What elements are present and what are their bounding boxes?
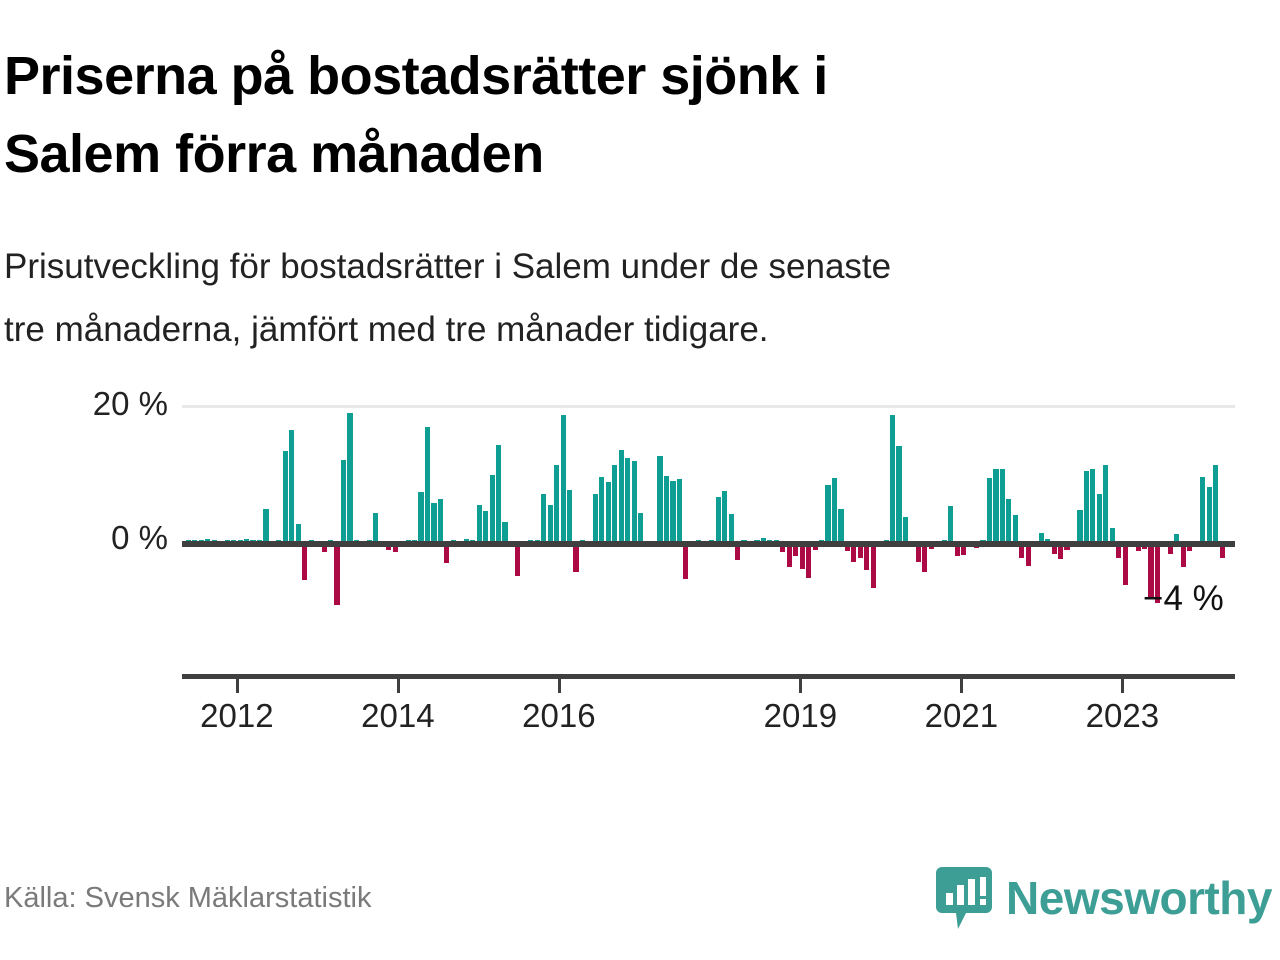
bar xyxy=(1084,471,1089,541)
bar xyxy=(334,541,339,605)
x-tick-label: 2019 xyxy=(764,697,837,735)
bar xyxy=(1013,515,1018,541)
bar xyxy=(554,465,559,541)
bar xyxy=(664,476,669,541)
bar xyxy=(993,469,998,541)
brand-logo: Newsworthy xyxy=(936,862,1272,934)
bar xyxy=(657,456,662,541)
newsworthy-bars-bubble-icon xyxy=(936,867,992,929)
bar xyxy=(483,511,488,541)
bar xyxy=(729,514,734,541)
bar xyxy=(832,478,837,541)
bar xyxy=(341,460,346,541)
bar xyxy=(871,541,876,588)
y-tick-label-0: 0 % xyxy=(111,519,168,557)
bar xyxy=(987,478,992,541)
bar xyxy=(606,482,611,541)
bar xyxy=(373,513,378,541)
bar xyxy=(289,430,294,541)
bar xyxy=(347,413,352,541)
bar xyxy=(496,445,501,541)
bar xyxy=(619,450,624,541)
bar xyxy=(425,427,430,541)
tick-mark xyxy=(960,679,963,693)
bar xyxy=(1174,534,1179,541)
bar xyxy=(825,485,830,541)
x-axis-ticks: 201220142016201920212023 xyxy=(182,679,1235,739)
brand-name: Newsworthy xyxy=(1006,875,1272,921)
bar xyxy=(477,505,482,541)
y-axis-labels: 20 % 0 % xyxy=(0,380,168,680)
bar xyxy=(502,522,507,541)
bar xyxy=(1006,499,1011,541)
plot-area xyxy=(182,405,1235,677)
bar xyxy=(490,475,495,541)
bar xyxy=(722,491,727,541)
bar xyxy=(1200,477,1205,541)
bar xyxy=(948,506,953,541)
tick-mark xyxy=(1121,679,1124,693)
bar xyxy=(438,499,443,541)
bar xyxy=(677,479,682,541)
bar xyxy=(716,497,721,541)
bar xyxy=(890,415,895,541)
bar xyxy=(1110,528,1115,541)
bar xyxy=(838,509,843,541)
bar xyxy=(1000,469,1005,541)
chart-page: Priserna på bostadsrätter sjönk i Salem … xyxy=(0,0,1280,960)
bar xyxy=(548,505,553,541)
x-tick-label: 2023 xyxy=(1086,697,1159,735)
bar xyxy=(1090,469,1095,541)
bar xyxy=(625,458,630,541)
latest-value-annotation: −4 % xyxy=(1143,579,1224,619)
bar xyxy=(903,517,908,541)
bar xyxy=(1207,487,1212,541)
bar xyxy=(431,503,436,541)
chart-subtitle: Prisutveckling för bostadsrätter i Salem… xyxy=(4,235,1274,361)
bar xyxy=(1077,510,1082,541)
x-tick-label: 2021 xyxy=(925,697,998,735)
y-tick-label-20: 20 % xyxy=(93,385,168,423)
bar xyxy=(541,494,546,541)
bar xyxy=(670,481,675,541)
bar xyxy=(1039,533,1044,541)
tick-mark xyxy=(397,679,400,693)
source-note: Källa: Svensk Mäklarstatistik xyxy=(4,882,371,915)
page-title: Priserna på bostadsrätter sjönk i Salem … xyxy=(4,38,1184,194)
bar xyxy=(263,509,268,541)
bar xyxy=(896,446,901,541)
x-tick-label: 2012 xyxy=(200,697,273,735)
tick-mark xyxy=(799,679,802,693)
tick-mark xyxy=(558,679,561,693)
bar xyxy=(283,451,288,541)
bar xyxy=(638,513,643,541)
x-tick-label: 2016 xyxy=(522,697,595,735)
zero-axis-line xyxy=(182,541,1235,547)
bar xyxy=(1097,494,1102,541)
bar xyxy=(296,524,301,541)
bar xyxy=(561,415,566,541)
bar xyxy=(418,492,423,541)
bar xyxy=(599,477,604,541)
x-tick-label: 2014 xyxy=(361,697,434,735)
bar xyxy=(567,490,572,541)
bar xyxy=(612,465,617,541)
bar xyxy=(1103,465,1108,541)
bar xyxy=(632,461,637,541)
bar-chart: 20 % 0 % 201220142016201920212023 xyxy=(0,380,1280,760)
bar xyxy=(593,494,598,541)
tick-mark xyxy=(236,679,239,693)
bar xyxy=(1213,465,1218,541)
bar xyxy=(1123,541,1128,585)
